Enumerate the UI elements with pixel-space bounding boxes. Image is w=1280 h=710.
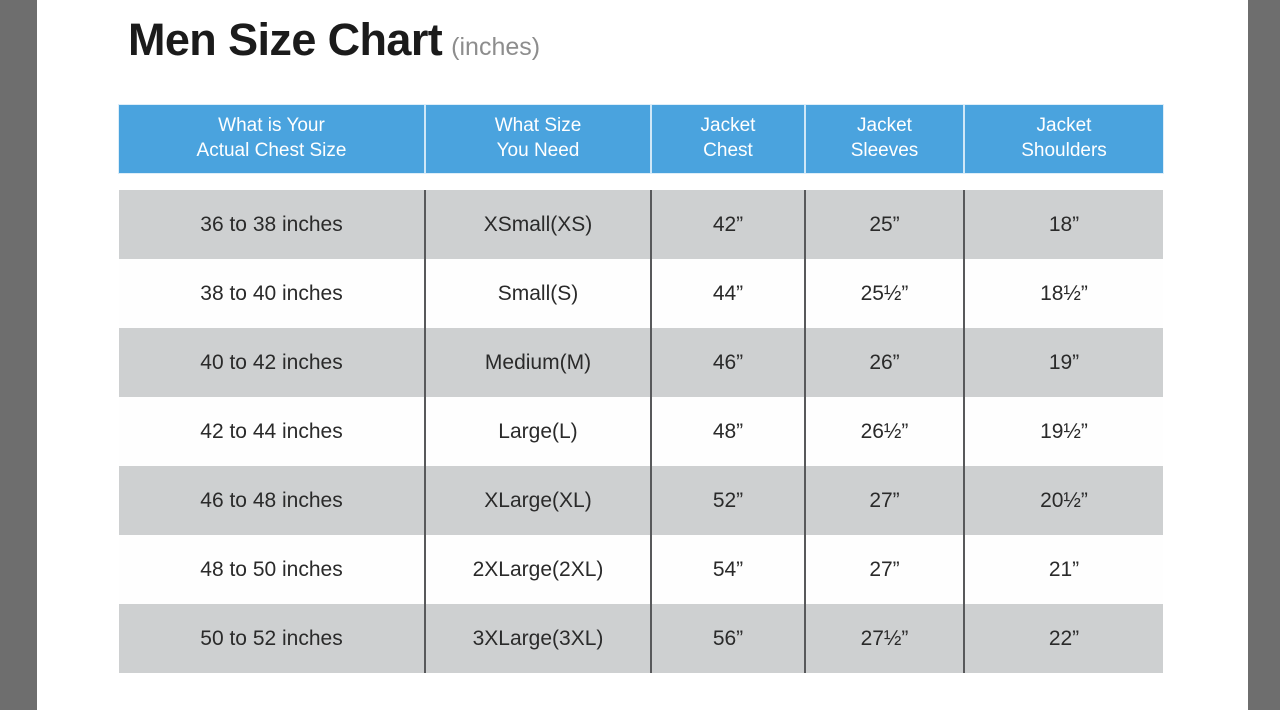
table-cell: 48 to 50 inches: [119, 535, 426, 604]
column-header-line1: What Size: [495, 114, 582, 139]
table-cell: 38 to 40 inches: [119, 259, 426, 328]
page-title: Men Size Chart (inches): [128, 17, 540, 62]
right-letterbox-band: [1248, 0, 1280, 710]
column-header-line1: Jacket: [701, 114, 756, 139]
column-header-line2: Chest: [703, 139, 753, 164]
column-header-jacket-shoulders: Jacket Shoulders: [965, 105, 1163, 173]
table-cell: 46”: [652, 328, 806, 397]
table-header-row: What is Your Actual Chest Size What Size…: [119, 105, 1163, 173]
table-cell: 18”: [965, 190, 1163, 259]
table-row: 48 to 50 inches2XLarge(2XL)54”27”21”: [119, 535, 1163, 604]
page-title-main: Men Size Chart: [128, 17, 442, 62]
table-cell: Small(S): [426, 259, 652, 328]
table-cell: 19½”: [965, 397, 1163, 466]
page-title-unit: (inches): [451, 35, 540, 60]
table-cell: 3XLarge(3XL): [426, 604, 652, 673]
table-cell: 56”: [652, 604, 806, 673]
size-chart-table: What is Your Actual Chest Size What Size…: [119, 105, 1163, 673]
table-cell: 20½”: [965, 466, 1163, 535]
column-header-jacket-sleeves: Jacket Sleeves: [806, 105, 965, 173]
table-row: 42 to 44 inchesLarge(L)48”26½”19½”: [119, 397, 1163, 466]
table-cell: 42 to 44 inches: [119, 397, 426, 466]
table-body: 36 to 38 inchesXSmall(XS)42”25”18”38 to …: [119, 190, 1163, 673]
table-cell: Large(L): [426, 397, 652, 466]
column-header-line1: Jacket: [1037, 114, 1092, 139]
table-row: 50 to 52 inches3XLarge(3XL)56”27½”22”: [119, 604, 1163, 673]
column-header-actual-chest-size: What is Your Actual Chest Size: [119, 105, 426, 173]
table-cell: 26½”: [806, 397, 965, 466]
column-header-jacket-chest: Jacket Chest: [652, 105, 806, 173]
table-cell: 2XLarge(2XL): [426, 535, 652, 604]
table-cell: 42”: [652, 190, 806, 259]
table-row: 40 to 42 inchesMedium(M)46”26”19”: [119, 328, 1163, 397]
table-cell: 52”: [652, 466, 806, 535]
table-row: 46 to 48 inchesXLarge(XL)52”27”20½”: [119, 466, 1163, 535]
table-cell: 27”: [806, 535, 965, 604]
column-header-line1: Jacket: [857, 114, 912, 139]
table-cell: 25”: [806, 190, 965, 259]
column-header-line2: Actual Chest Size: [197, 139, 347, 164]
column-header-line1: What is Your: [218, 114, 325, 139]
size-chart-page: Men Size Chart (inches) What is Your Act…: [37, 0, 1248, 710]
column-header-line2: Shoulders: [1021, 139, 1107, 164]
table-cell: XSmall(XS): [426, 190, 652, 259]
table-cell: 27½”: [806, 604, 965, 673]
table-row: 38 to 40 inchesSmall(S)44”25½”18½”: [119, 259, 1163, 328]
table-cell: 25½”: [806, 259, 965, 328]
table-cell: XLarge(XL): [426, 466, 652, 535]
table-cell: 18½”: [965, 259, 1163, 328]
table-cell: 21”: [965, 535, 1163, 604]
column-header-line2: You Need: [497, 139, 580, 164]
table-cell: 40 to 42 inches: [119, 328, 426, 397]
table-cell: 54”: [652, 535, 806, 604]
table-cell: 46 to 48 inches: [119, 466, 426, 535]
table-cell: Medium(M): [426, 328, 652, 397]
table-cell: 26”: [806, 328, 965, 397]
screenshot-stage: Men Size Chart (inches) What is Your Act…: [0, 0, 1280, 710]
table-cell: 22”: [965, 604, 1163, 673]
table-cell: 27”: [806, 466, 965, 535]
column-header-line2: Sleeves: [851, 139, 919, 164]
left-letterbox-band: [0, 0, 37, 710]
table-cell: 48”: [652, 397, 806, 466]
table-row: 36 to 38 inchesXSmall(XS)42”25”18”: [119, 190, 1163, 259]
table-cell: 19”: [965, 328, 1163, 397]
column-header-size-you-need: What Size You Need: [426, 105, 652, 173]
table-cell: 50 to 52 inches: [119, 604, 426, 673]
table-cell: 36 to 38 inches: [119, 190, 426, 259]
table-cell: 44”: [652, 259, 806, 328]
